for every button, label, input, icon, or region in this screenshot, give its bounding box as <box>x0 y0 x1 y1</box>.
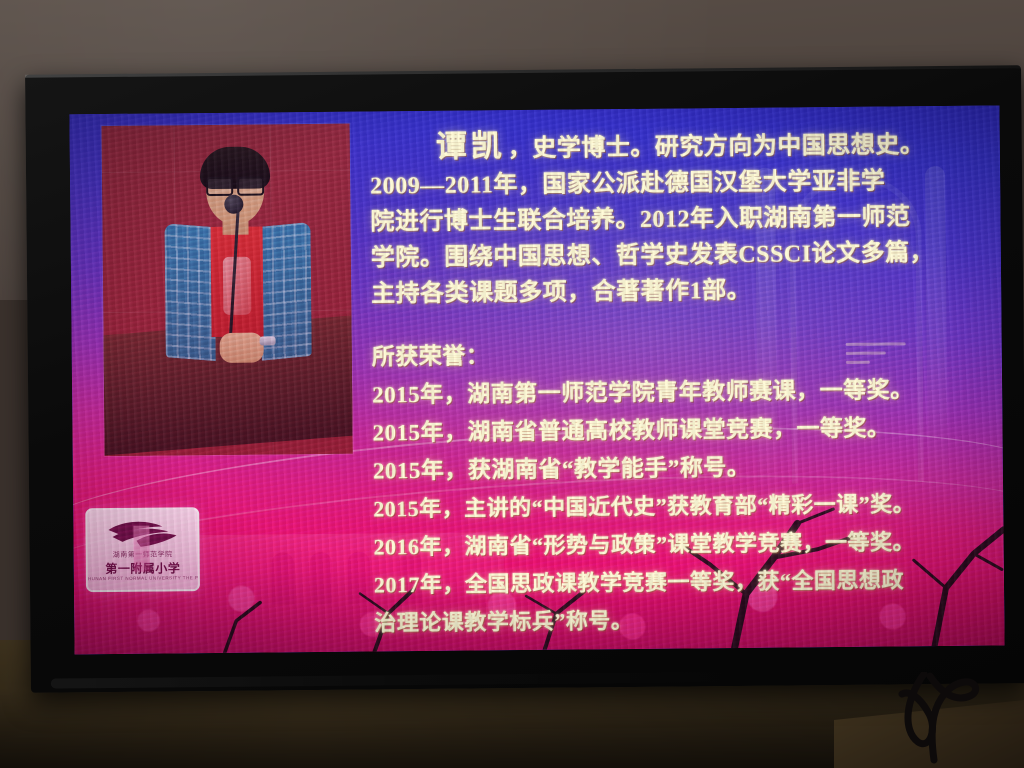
honor-item: 2015年，主讲的“中国近代史”获教育部“精彩一课”奖。 <box>373 485 991 529</box>
school-badge: 湖南第一师范学院 第一附属小学 HUNAN FIRST NORMAL UNIVE… <box>85 507 200 592</box>
bio-line: 2009—2011年，国家公派赴德国汉堡大学亚非学 <box>370 163 988 205</box>
hands <box>220 333 264 363</box>
television: 湖南第一师范学院 第一附属小学 HUNAN FIRST NORMAL UNIVE… <box>25 65 1024 693</box>
professor-title: ，史学博士。研究方向为中国思想史。 <box>508 132 925 162</box>
wristwatch-icon <box>260 336 276 345</box>
bio-line: 学院。围绕中国思想、哲学史发表CSSCI论文多篇， <box>371 235 989 277</box>
plaid-shirt-left <box>164 223 215 361</box>
microphone-icon <box>224 195 243 214</box>
honors-section: 所获荣誉： 2015年，湖南第一师范学院青年教师赛课，一等奖。 2015年，湖南… <box>372 333 993 643</box>
honor-item: 治理论课教学标兵”称号。 <box>374 599 992 643</box>
glasses-icon <box>206 177 264 193</box>
honor-item: 2016年，湖南省“形势与政策”课堂教学竞赛，一等奖。 <box>373 523 991 567</box>
slide-text-column: 谭凯，史学博士。研究方向为中国思想史。 2009—2011年，国家公派赴德国汉堡… <box>370 124 993 643</box>
room-scene: 湖南第一师范学院 第一附属小学 HUNAN FIRST NORMAL UNIVE… <box>0 0 1024 768</box>
speaker-photo <box>102 124 353 456</box>
bio-line: 院进行博士生联合培养。2012年入职湖南第一师范 <box>370 199 988 241</box>
badge-line-3: HUNAN FIRST NORMAL UNIVERSITY THE PRIMAR… <box>88 575 198 581</box>
bezel-sheen <box>51 672 768 689</box>
bio-name-line: 谭凯，史学博士。研究方向为中国思想史。 <box>370 124 988 169</box>
tv-screen: 湖南第一师范学院 第一附属小学 HUNAN FIRST NORMAL UNIVE… <box>69 105 1004 654</box>
honors-heading: 所获荣誉： <box>372 333 990 377</box>
honor-item: 2015年，湖南省普通高校教师课堂竞赛，一等奖。 <box>372 409 990 453</box>
badge-post <box>133 526 149 572</box>
professor-name: 谭凯 <box>436 128 508 164</box>
hanging-cable-icon <box>884 672 1004 768</box>
bio-line: 主持各类课题多项，合著著作1部。 <box>371 271 989 313</box>
honor-item: 2017年，全国思政课教学竞赛一等奖，获“全国思想政 <box>374 561 992 605</box>
honor-item: 2015年，湖南第一师范学院青年教师赛课，一等奖。 <box>372 371 990 415</box>
speaker-figure <box>158 146 310 377</box>
honor-item: 2015年，获湖南省“教学能手”称号。 <box>373 447 991 491</box>
